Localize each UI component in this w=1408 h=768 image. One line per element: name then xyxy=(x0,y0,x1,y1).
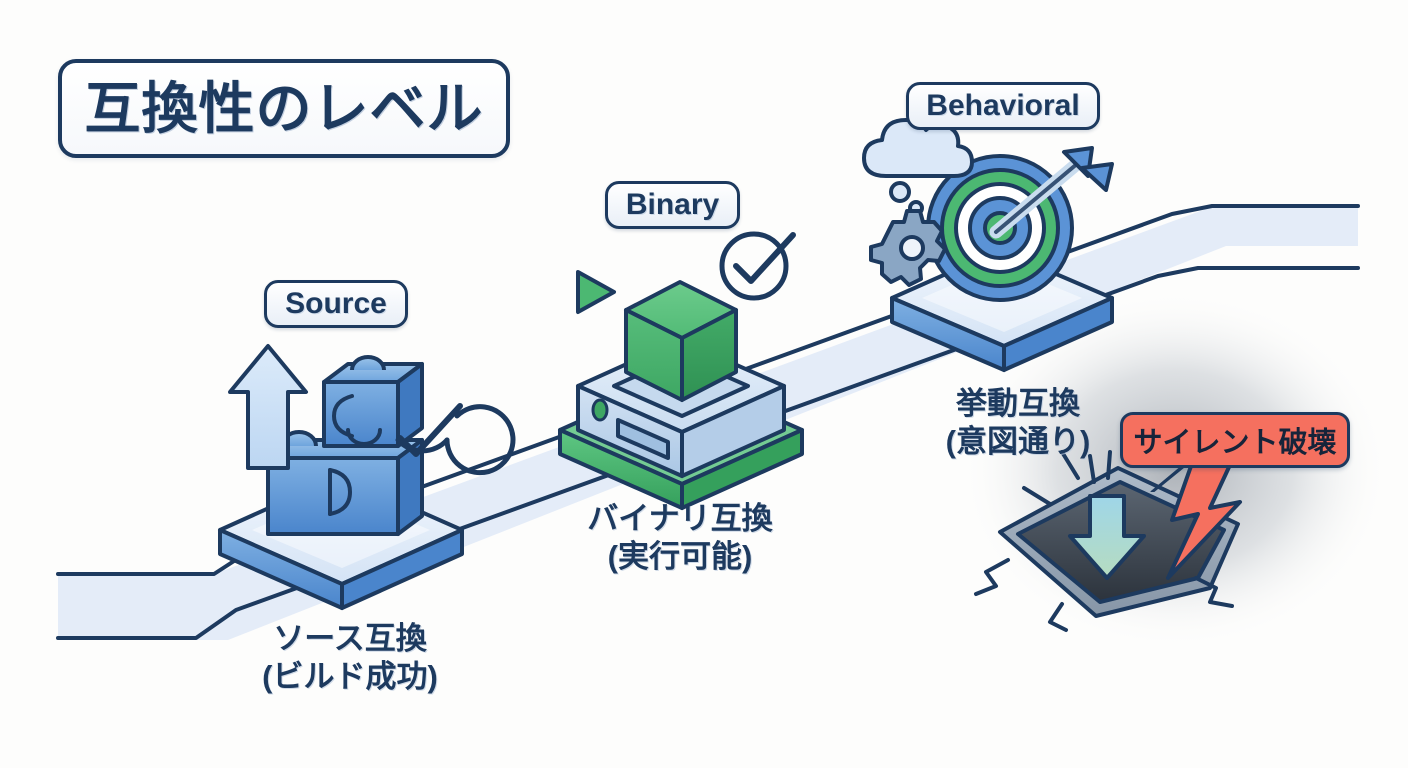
stage-badge-behavioral-label: Behavioral xyxy=(926,89,1079,123)
caption-source: ソース互換 (ビルド成功) xyxy=(180,620,520,696)
caption-binary: バイナリ互換 (実行可能) xyxy=(510,500,850,576)
caption-binary-line1: バイナリ互換 xyxy=(510,500,850,538)
check-circle-icon xyxy=(722,234,793,298)
page-title: 互換性のレベル xyxy=(58,59,510,158)
stage-badge-source-label: Source xyxy=(285,287,387,321)
page-title-text: 互換性のレベル xyxy=(85,81,484,137)
caption-binary-line2: (実行可能) xyxy=(510,538,850,576)
status-badge-silent-break-label: サイレント破壊 xyxy=(1133,419,1336,461)
stage-source-illustration xyxy=(220,346,513,608)
play-triangle-icon xyxy=(578,272,614,312)
gear-icon xyxy=(871,211,945,285)
diagram-canvas: 互換性のレベル Source Binary Behavioral ソース互換 (… xyxy=(0,0,1408,768)
stage-badge-behavioral[interactable]: Behavioral xyxy=(906,82,1100,130)
stage-badge-binary[interactable]: Binary xyxy=(605,181,740,229)
status-badge-silent-break[interactable]: サイレント破壊 xyxy=(1120,412,1350,468)
cube-icon xyxy=(626,282,736,400)
stage-badge-binary-label: Binary xyxy=(626,188,719,222)
caption-source-line2: (ビルド成功) xyxy=(180,658,520,696)
stage-badge-source[interactable]: Source xyxy=(264,280,408,328)
puzzle-piece-icon xyxy=(324,357,422,446)
caption-source-line1: ソース互換 xyxy=(180,620,520,658)
